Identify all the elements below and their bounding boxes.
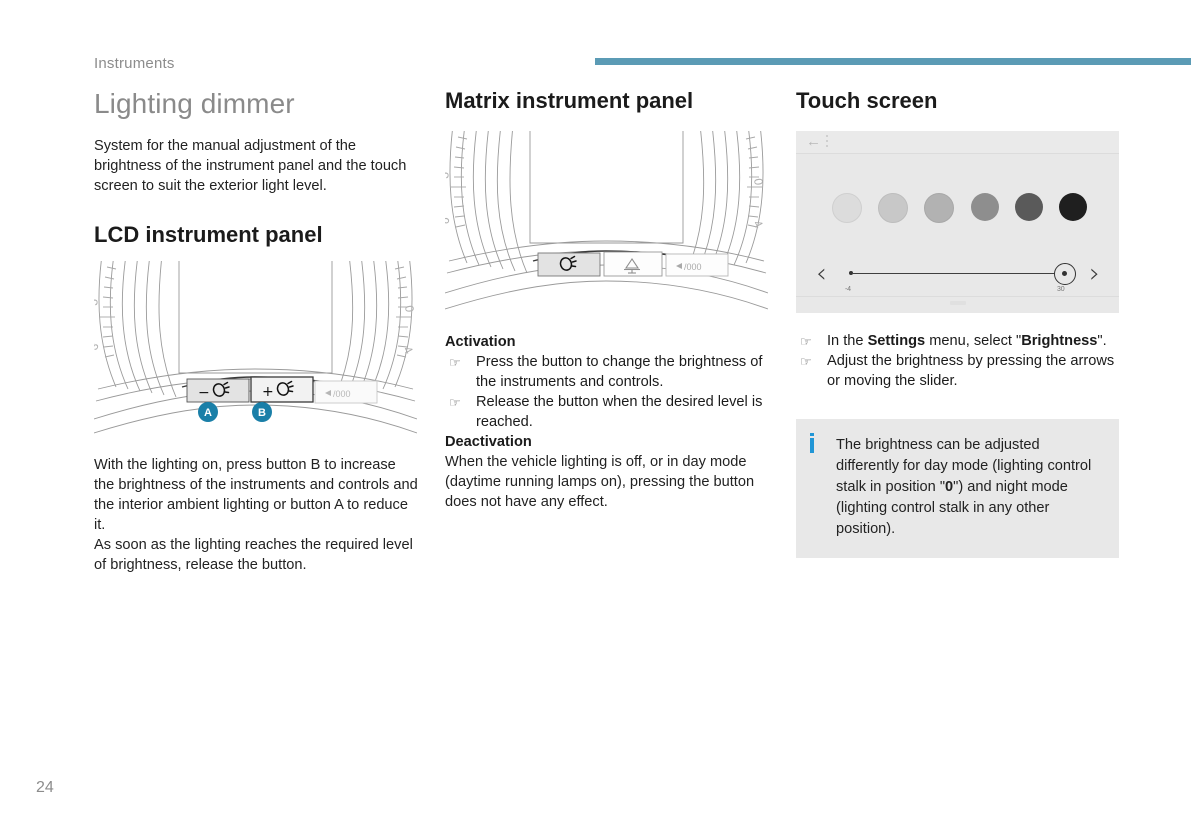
list-item-label: Adjust the brightness by pressing the ar…	[827, 353, 1114, 389]
column-right: Touch screen ← ‹ › -4 30 ☞	[796, 88, 1119, 558]
brightness-swatch[interactable]	[1059, 193, 1087, 221]
brightness-slider-row: ‹ › -4 30	[814, 257, 1102, 297]
left-paragraph-2: As soon as the lighting reaches the requ…	[94, 535, 419, 575]
section-title-lcd: LCD instrument panel	[94, 222, 419, 247]
kebab-menu-icon[interactable]	[826, 135, 829, 148]
brightness-swatch[interactable]	[878, 193, 908, 223]
pointing-hand-icon: ☞	[800, 352, 812, 372]
info-icon-dot	[810, 433, 814, 436]
matrix-instrument-panel-illustration: 5 6 0 4	[445, 131, 768, 316]
brightness-swatch[interactable]	[924, 193, 954, 223]
activation-heading: Activation	[445, 332, 770, 352]
svg-text:6: 6	[445, 214, 453, 227]
brightness-swatch-row	[832, 193, 1087, 223]
svg-text:0: 0	[751, 178, 766, 187]
page-number: 24	[36, 779, 54, 797]
slider-knob[interactable]	[1054, 263, 1076, 285]
header-accent-rule	[595, 58, 1191, 65]
svg-text:A: A	[204, 407, 212, 419]
pointing-hand-icon: ☞	[800, 332, 812, 352]
activation-steps: ☞ Press the button to change the brightn…	[445, 352, 770, 432]
brightness-swatch[interactable]	[832, 193, 862, 223]
brightness-swatch[interactable]	[971, 193, 999, 221]
svg-text:B: B	[258, 407, 266, 419]
deactivation-text: When the vehicle lighting is off, or in …	[445, 452, 770, 512]
column-left: Lighting dimmer System for the manual ad…	[94, 88, 419, 575]
chevron-right-icon[interactable]: ›	[1089, 259, 1100, 289]
home-indicator[interactable]	[950, 301, 966, 305]
list-item: ☞ Press the button to change the brightn…	[445, 352, 770, 392]
left-paragraph-1: With the lighting on, press button B to …	[94, 455, 419, 535]
breadcrumb: Instruments	[94, 55, 175, 72]
page-title: Lighting dimmer	[94, 88, 419, 120]
info-note-text: The brightness can be adjusted different…	[836, 435, 1103, 540]
list-item: ☞ Release the button when the desired le…	[445, 392, 770, 432]
list-item-label: Press the button to change the brightnes…	[476, 354, 762, 390]
touch-screen-mock: ← ‹ › -4 30	[796, 131, 1119, 313]
chevron-left-icon[interactable]: ‹	[816, 259, 827, 289]
back-arrow-icon[interactable]: ←	[806, 133, 821, 151]
info-note: The brightness can be adjusted different…	[796, 419, 1119, 558]
svg-text:/000: /000	[684, 262, 702, 272]
list-item: ☞ In the Settings menu, select "Brightne…	[796, 331, 1119, 351]
list-item: ☞ Adjust the brightness by pressing the …	[796, 351, 1119, 391]
slider-track[interactable]	[852, 273, 1064, 274]
pointing-hand-icon: ☞	[449, 393, 461, 413]
brightness-swatch[interactable]	[1015, 193, 1043, 221]
deactivation-heading: Deactivation	[445, 432, 770, 452]
column-middle: Matrix instrument panel	[445, 88, 770, 512]
touch-screen-bottom-bar	[796, 296, 1119, 313]
touch-screen-steps: ☞ In the Settings menu, select "Brightne…	[796, 331, 1119, 391]
slider-max-label: 30	[1057, 286, 1064, 293]
info-icon-stem	[810, 438, 814, 453]
intro-paragraph: System for the manual adjustment of the …	[94, 136, 419, 196]
touch-screen-top-bar: ←	[796, 131, 1119, 154]
svg-text:5: 5	[445, 171, 452, 180]
pointing-hand-icon: ☞	[449, 353, 461, 373]
lcd-instrument-panel-illustration: 5 3 0 4 − +	[94, 261, 417, 441]
section-title-matrix: Matrix instrument panel	[445, 88, 770, 113]
list-item-label: In the Settings menu, select "Brightness…	[827, 333, 1107, 349]
slider-min-label: -4	[845, 286, 851, 293]
section-title-touch-screen: Touch screen	[796, 88, 1119, 113]
svg-text:4: 4	[750, 218, 766, 231]
list-item-label: Release the button when the desired leve…	[476, 394, 762, 430]
